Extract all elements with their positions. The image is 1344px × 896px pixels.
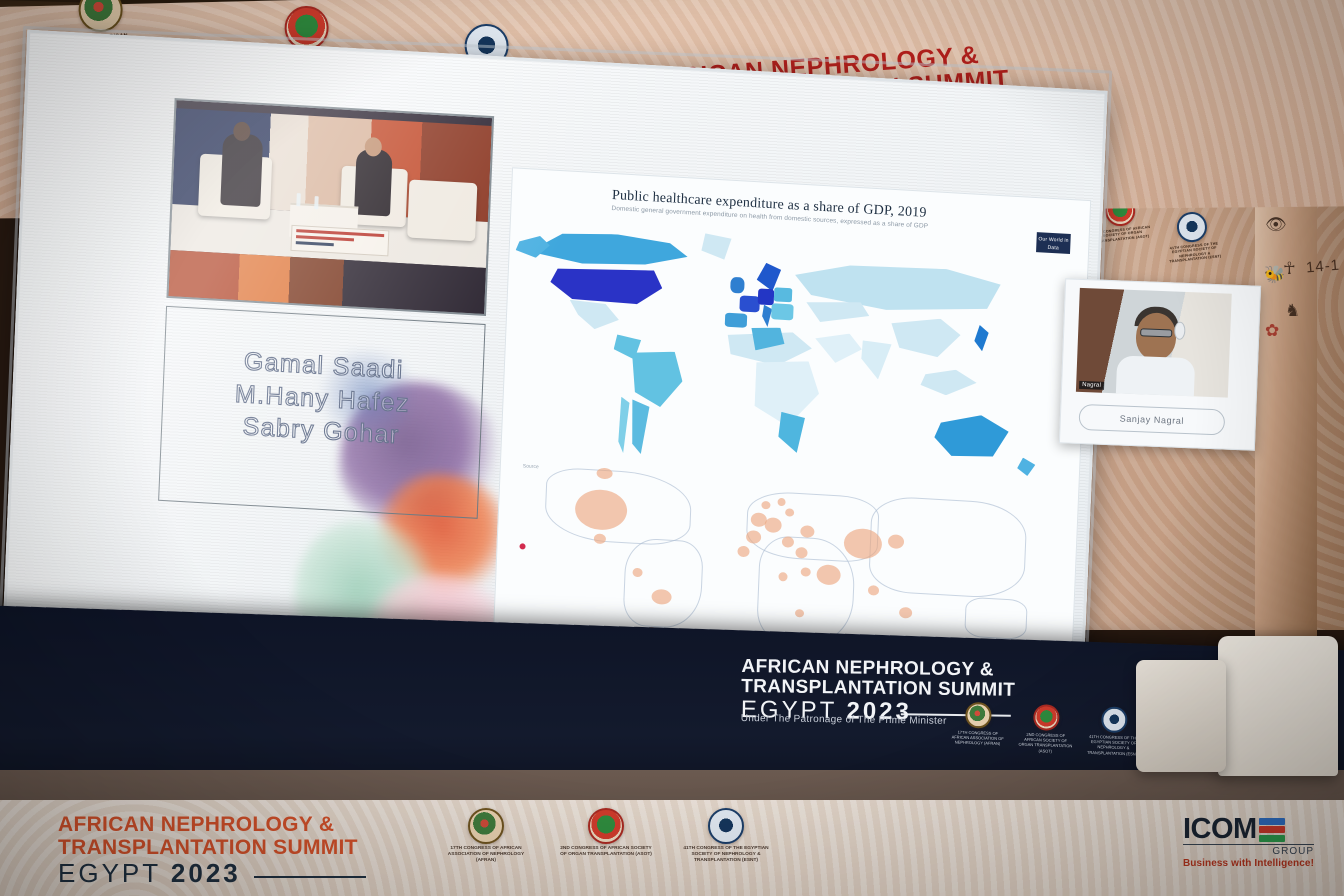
skirt-logo-caption: 41TH CONGRESS OF THE EGYPTIAN SOCIETY OF…	[1085, 734, 1142, 757]
overlay-line-2: TRANSPLANTATION SUMMIT	[58, 837, 366, 860]
icom-group-logo[interactable]: ICOM GROUP Business with Intelligence!	[1183, 816, 1314, 869]
lotus-icon: ✿	[1265, 318, 1279, 344]
asot-emblem-icon	[588, 808, 624, 844]
headset-icon	[1174, 322, 1186, 340]
overlay-logo-esnt: 41TH CONGRESS OF THE EGYPTIAN SOCIETY OF…	[680, 808, 772, 865]
icom-name: ICOM	[1183, 813, 1257, 845]
stage-armchair	[1136, 660, 1226, 772]
skirt-logo-caption: 2ND CONGRESS OF AFRICAN SOCIETY OF ORGAN…	[1017, 732, 1074, 755]
conference-hall-scene: 👁 ☥ 🐝 ♞ ✿ 17TH CONGRESS OF AFRICAN ASSOC…	[0, 0, 1344, 896]
icom-suffix: GROUP	[1183, 844, 1314, 857]
icom-wordmark: ICOM	[1183, 816, 1314, 844]
afran-emblem-icon	[965, 702, 992, 729]
icom-flag-icon	[1259, 818, 1285, 844]
decorative-pillar: 👁 ☥ 🐝 ♞ ✿	[1255, 170, 1317, 640]
overlay-logo-afran: 17TH CONGRESS OF AFRICAN ASSOCIATION OF …	[440, 808, 532, 865]
remote-participant-video[interactable]: Nagral	[1076, 288, 1232, 398]
overlay-logo-asot: 2ND CONGRESS OF AFRICAN SOCIETY OF ORGAN…	[560, 808, 652, 865]
esnt-emblem-icon	[1175, 211, 1208, 244]
overlay-logo-caption: 41TH CONGRESS OF THE EGYPTIAN SOCIETY OF…	[680, 846, 772, 865]
overlay-rule	[254, 876, 366, 879]
skirt-logo-asot: 2ND CONGRESS OF AFRICAN SOCIETY OF ORGAN…	[1017, 704, 1075, 755]
video-name-badge: Nagral	[1079, 381, 1104, 390]
overlay-year: 2023	[171, 858, 241, 888]
overlay-country: EGYPT	[58, 858, 161, 888]
participant-torso	[1116, 355, 1196, 397]
afran-emblem-icon	[468, 808, 504, 844]
asot-emblem-icon	[1033, 704, 1060, 731]
event-date: 14-1	[1305, 257, 1340, 277]
skirt-logo-caption: 17TH CONGRESS OF AFRICAN ASSOCIATION OF …	[949, 729, 1005, 746]
remote-participant-panel[interactable]: Nagral Sanjay Nagral	[1059, 278, 1261, 450]
screen-bezel	[0, 26, 1112, 690]
esnt-emblem-icon	[708, 808, 744, 844]
eye-of-horus-icon: 👁	[1265, 212, 1287, 238]
overlay-country-year: EGYPT 2023	[58, 859, 366, 888]
remote-participant-name: Sanjay Nagral	[1078, 404, 1225, 436]
icom-tagline: Business with Intelligence!	[1183, 858, 1314, 869]
overlay-logo-caption: 17TH CONGRESS OF AFRICAN ASSOCIATION OF …	[440, 846, 532, 865]
backdrop-logo-esnt: 41TH CONGRESS OF THE EGYPTIAN SOCIETY OF…	[1160, 209, 1227, 265]
stage-skirt-logos: 17TH CONGRESS OF AFRICAN ASSOCIATION OF …	[949, 701, 1143, 756]
overlay-logo-caption: 2ND CONGRESS OF AFRICAN SOCIETY OF ORGAN…	[560, 846, 652, 858]
skirt-logo-esnt: 41TH CONGRESS OF THE EGYPTIAN SOCIETY OF…	[1085, 706, 1143, 757]
eyeglasses-icon	[1140, 328, 1172, 337]
overlay-line-1: AFRICAN NEPHROLOGY &	[58, 814, 366, 837]
bottom-overlay-bar: AFRICAN NEPHROLOGY & TRANSPLANTATION SUM…	[0, 800, 1344, 896]
overlay-logos: 17TH CONGRESS OF AFRICAN ASSOCIATION OF …	[440, 808, 772, 865]
esnt-emblem-icon	[1101, 706, 1128, 733]
stage-armchair	[1218, 636, 1338, 776]
overlay-title: AFRICAN NEPHROLOGY & TRANSPLANTATION SUM…	[58, 814, 366, 878]
scarab-icon: 🐝	[1264, 262, 1285, 288]
pharaoh-figure-icon: ♞	[1285, 298, 1300, 324]
skirt-logo-afran: 17TH CONGRESS OF AFRICAN ASSOCIATION OF …	[949, 701, 1007, 752]
